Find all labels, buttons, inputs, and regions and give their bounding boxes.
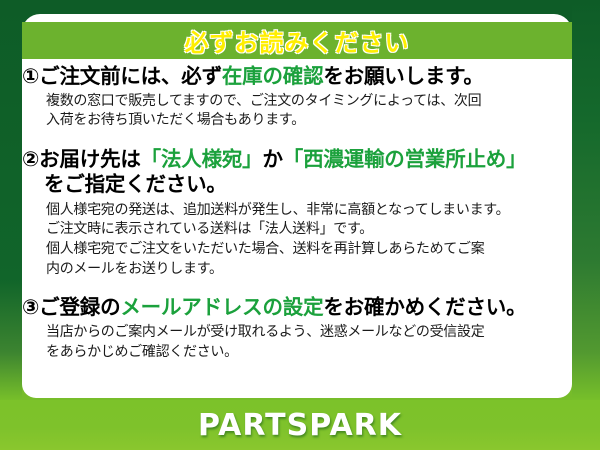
notice-item-2-body-line-4: 内のメールをお送りします。 (46, 260, 578, 280)
notice-item-1-body-line-1: 複数の窓口で販売してますので、ご注文のタイミングによっては、次回 (46, 92, 578, 112)
notice-item-1-body: 複数の窓口で販売してますので、ご注文のタイミングによっては、次回 入荷をお待ち頂… (22, 92, 578, 132)
notice-item-3-heading-part-1: ご登録の (39, 295, 120, 319)
notice-item-2-heading-part-1: お届け先は (39, 147, 141, 171)
notice-item-2-body-line-2: ご注文時に表示されている送料は「法人送料」です。 (46, 220, 578, 240)
notice-item-2-body: 個人様宅宛の発送は、追加送料が発生し、非常に高額となってしまいます。 ご注文時に… (22, 201, 578, 281)
notice-item-2-heading-highlight-2: 「西濃運輸の営業所止め」 (283, 147, 527, 171)
notice-item-1-heading-part-1: ご注文前には、必ず (39, 64, 222, 88)
notice-item-1-body-line-2: 入荷をお待ち頂いただく場合もあります。 (46, 111, 578, 131)
brand-logo: PARTSPARK (198, 408, 402, 443)
notice-item-1-heading-highlight: 在庫の確認 (222, 64, 324, 88)
notice-item-3-heading-part-3: をお確かめください。 (323, 295, 526, 319)
notice-item-3-heading: ③ご登録のメールアドレスの設定をお確かめください。 (22, 295, 578, 320)
notice-item-2-marker: ② (22, 147, 39, 171)
footer-bar: PARTSPARK (0, 400, 600, 450)
notice-item-2-heading: ②お届け先は「法人様宛」か「西濃運輸の営業所止め」 (22, 147, 578, 172)
notice-item-2-body-line-1: 個人様宅宛の発送は、追加送料が発生し、非常に高額となってしまいます。 (46, 201, 578, 221)
notice-item-3-body-line-1: 当店からのご案内メールが受け取れるよう、迷惑メールなどの受信設定 (46, 323, 578, 343)
notice-item-3-body-line-2: をあらかじめご確認ください。 (46, 343, 578, 363)
notice-item-2-heading-line2: をご指定ください。 (22, 172, 578, 197)
notice-item-2-heading-part-3: か (262, 147, 282, 171)
title-bar: 必ずお読みください (22, 22, 572, 59)
notice-item-2: ②お届け先は「法人様宛」か「西濃運輸の営業所止め」 をご指定ください。 個人様宅… (22, 147, 578, 280)
notice-item-1: ①ご注文前には、必ず在庫の確認をお願いします。 複数の窓口で販売してますので、ご… (22, 64, 578, 131)
notice-item-1-marker: ① (22, 64, 39, 88)
notice-item-3-marker: ③ (22, 295, 39, 319)
notice-item-2-heading-highlight-1: 「法人様宛」 (141, 147, 263, 171)
notice-item-1-heading-part-3: をお願いします。 (323, 64, 483, 88)
banner-title: 必ずお読みください (185, 23, 410, 58)
notice-banner: 必ずお読みください ①ご注文前には、必ず在庫の確認をお願いします。 複数の窓口で… (0, 0, 600, 450)
notice-item-2-body-line-3: 個人様宅宛でご注文をいただいた場合、送料を再計算しあらためてご案 (46, 240, 578, 260)
notice-item-3: ③ご登録のメールアドレスの設定をお確かめください。 当店からのご案内メールが受け… (22, 295, 578, 362)
notice-item-3-heading-highlight: メールアドレスの設定 (120, 295, 323, 319)
notice-item-1-heading: ①ご注文前には、必ず在庫の確認をお願いします。 (22, 64, 578, 89)
notice-list: ①ご注文前には、必ず在庫の確認をお願いします。 複数の窓口で販売してますので、ご… (22, 62, 578, 392)
notice-item-3-body: 当店からのご案内メールが受け取れるよう、迷惑メールなどの受信設定 をあらかじめご… (22, 323, 578, 363)
left-frame-border (0, 0, 22, 400)
